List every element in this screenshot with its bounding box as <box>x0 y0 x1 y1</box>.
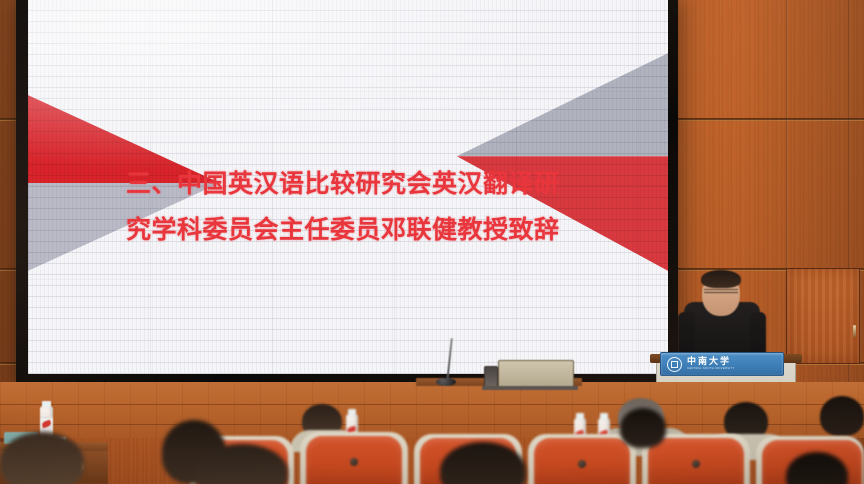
bottle-cap <box>576 413 584 419</box>
podium-nameplate: 中南大学 CENTRAL SOUTH UNIVERSITY <box>660 352 784 376</box>
bottle-cap <box>348 409 356 415</box>
conference-hall-photo: 三、中国英汉语比较研究会英汉翻译研 究学科委员会主任委员邓联健教授致辞 中南大学… <box>0 0 864 484</box>
slide-title-line-2: 究学科委员会主任委员邓联健教授致辞 <box>126 214 560 247</box>
wooden-door[interactable] <box>786 268 860 364</box>
slide-title-line-1: 三、中国英汉语比较研究会英汉翻译研 <box>126 168 560 201</box>
seat-bolt <box>692 460 700 468</box>
seat-bolt <box>578 460 586 468</box>
laptop-screen <box>498 360 574 388</box>
podium-sign-en: CENTRAL SOUTH UNIVERSITY <box>687 368 735 371</box>
bottle-cap <box>42 401 51 407</box>
audience-head <box>620 408 666 448</box>
speaker-hair <box>701 270 741 288</box>
podium-sign-cn: 中南大学 <box>687 357 735 366</box>
laptop-lid <box>484 366 498 388</box>
slide-chevron-gray-right <box>457 53 668 156</box>
audience-head <box>820 396 864 436</box>
laptop-base <box>482 386 578 390</box>
audience-head <box>0 432 84 484</box>
led-screen: 三、中国英汉语比较研究会英汉翻译研 究学科委员会主任委员邓联健教授致辞 <box>28 0 668 374</box>
glasses-icon <box>704 289 738 293</box>
bottle-cap <box>600 413 608 419</box>
university-seal-icon <box>667 357 682 372</box>
seat-bolt <box>350 458 358 466</box>
microphone-icon <box>436 378 456 386</box>
door-handle-icon <box>853 325 856 337</box>
